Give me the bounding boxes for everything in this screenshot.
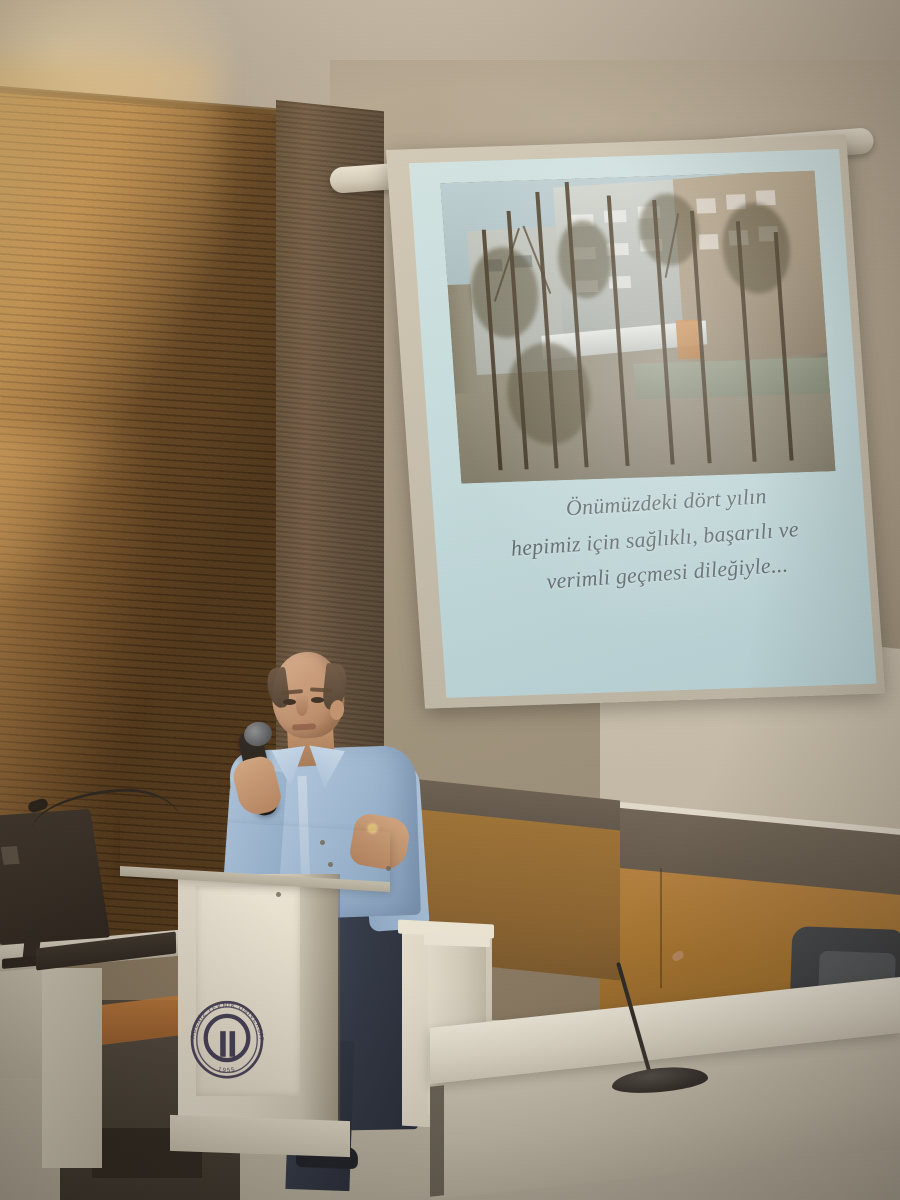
slide-photo xyxy=(441,171,836,483)
lectern-column-shadow xyxy=(300,874,340,1124)
panel-table-side-top xyxy=(424,933,490,947)
projected-slide: Önümüzdeki dört yılın hepimiz için sağlı… xyxy=(409,149,876,698)
speaker-eye-right xyxy=(311,697,324,703)
lectern-screw-3 xyxy=(386,866,391,871)
projection-screen: Önümüzdeki dört yılın hepimiz için sağlı… xyxy=(386,135,885,709)
monitor-badge-icon xyxy=(1,846,20,865)
lectern-base xyxy=(170,1115,350,1157)
lectern-screw-1 xyxy=(320,840,325,845)
desk-side-panel xyxy=(0,968,46,1078)
ktu-university-emblem: KARADENİZ TEKNİK ÜNİVERSİTESİ 1955 xyxy=(184,992,270,1084)
wood-panel-seam xyxy=(660,868,662,988)
desk-leg xyxy=(42,968,102,1168)
lectern-screw-4 xyxy=(276,892,281,897)
lectern-screw-2 xyxy=(328,862,333,867)
speaker-mouth xyxy=(292,723,316,730)
speaker-eye-left xyxy=(283,699,296,705)
slide-text-block: Önümüzdeki dört yılın hepimiz için sağlı… xyxy=(449,481,856,596)
speaker-nose xyxy=(296,694,308,716)
photo-orange-accent xyxy=(675,319,700,359)
conference-hall-photo: Önümüzdeki dört yılın hepimiz için sağlı… xyxy=(0,0,900,1200)
panel-table-leg xyxy=(430,1085,444,1196)
